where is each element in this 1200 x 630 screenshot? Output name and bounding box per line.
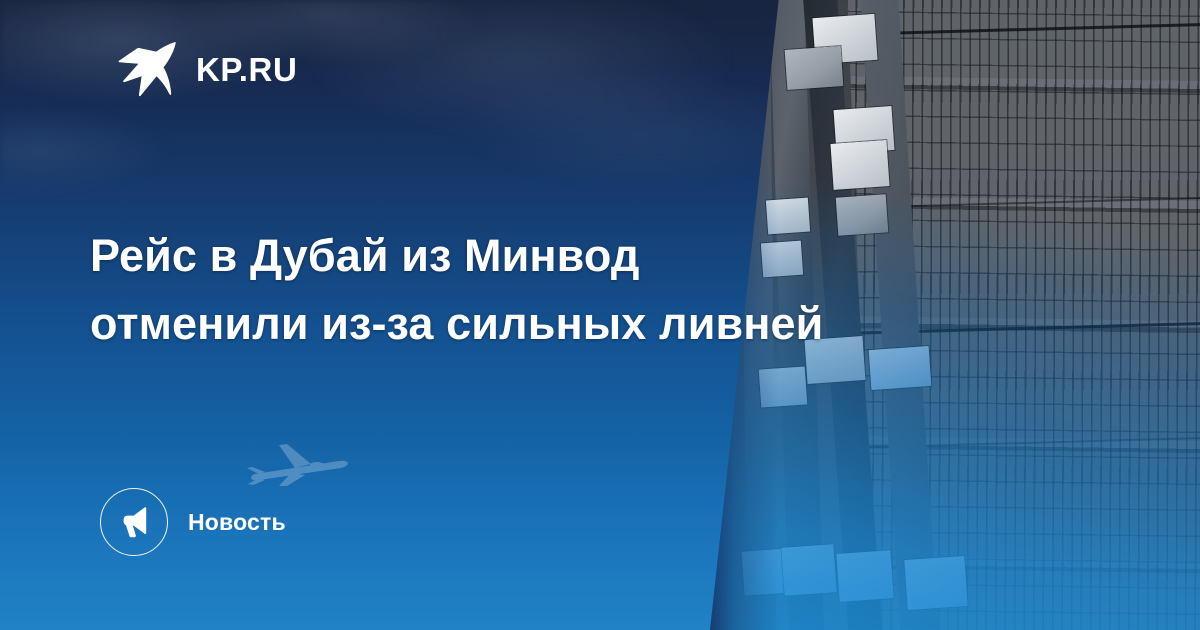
- news-share-card: KP.RU Рейс в Дубай из Минвод отменили из…: [0, 0, 1200, 630]
- swallow-bird-icon: [112, 38, 176, 100]
- airplane-silhouette-icon: [243, 440, 355, 492]
- badge-label: Новость: [188, 511, 286, 534]
- headline: Рейс в Дубай из Минвод отменили из-за си…: [90, 222, 1050, 358]
- news-badge[interactable]: Новость: [100, 488, 286, 556]
- badge-icon-circle: [100, 488, 168, 556]
- megaphone-icon: [117, 505, 151, 539]
- headline-line-2: отменили из-за сильных ливней: [90, 290, 1050, 358]
- brand-name: KP.RU: [196, 53, 297, 86]
- kp-logo[interactable]: KP.RU: [112, 38, 297, 100]
- headline-line-1: Рейс в Дубай из Минвод: [90, 222, 1050, 290]
